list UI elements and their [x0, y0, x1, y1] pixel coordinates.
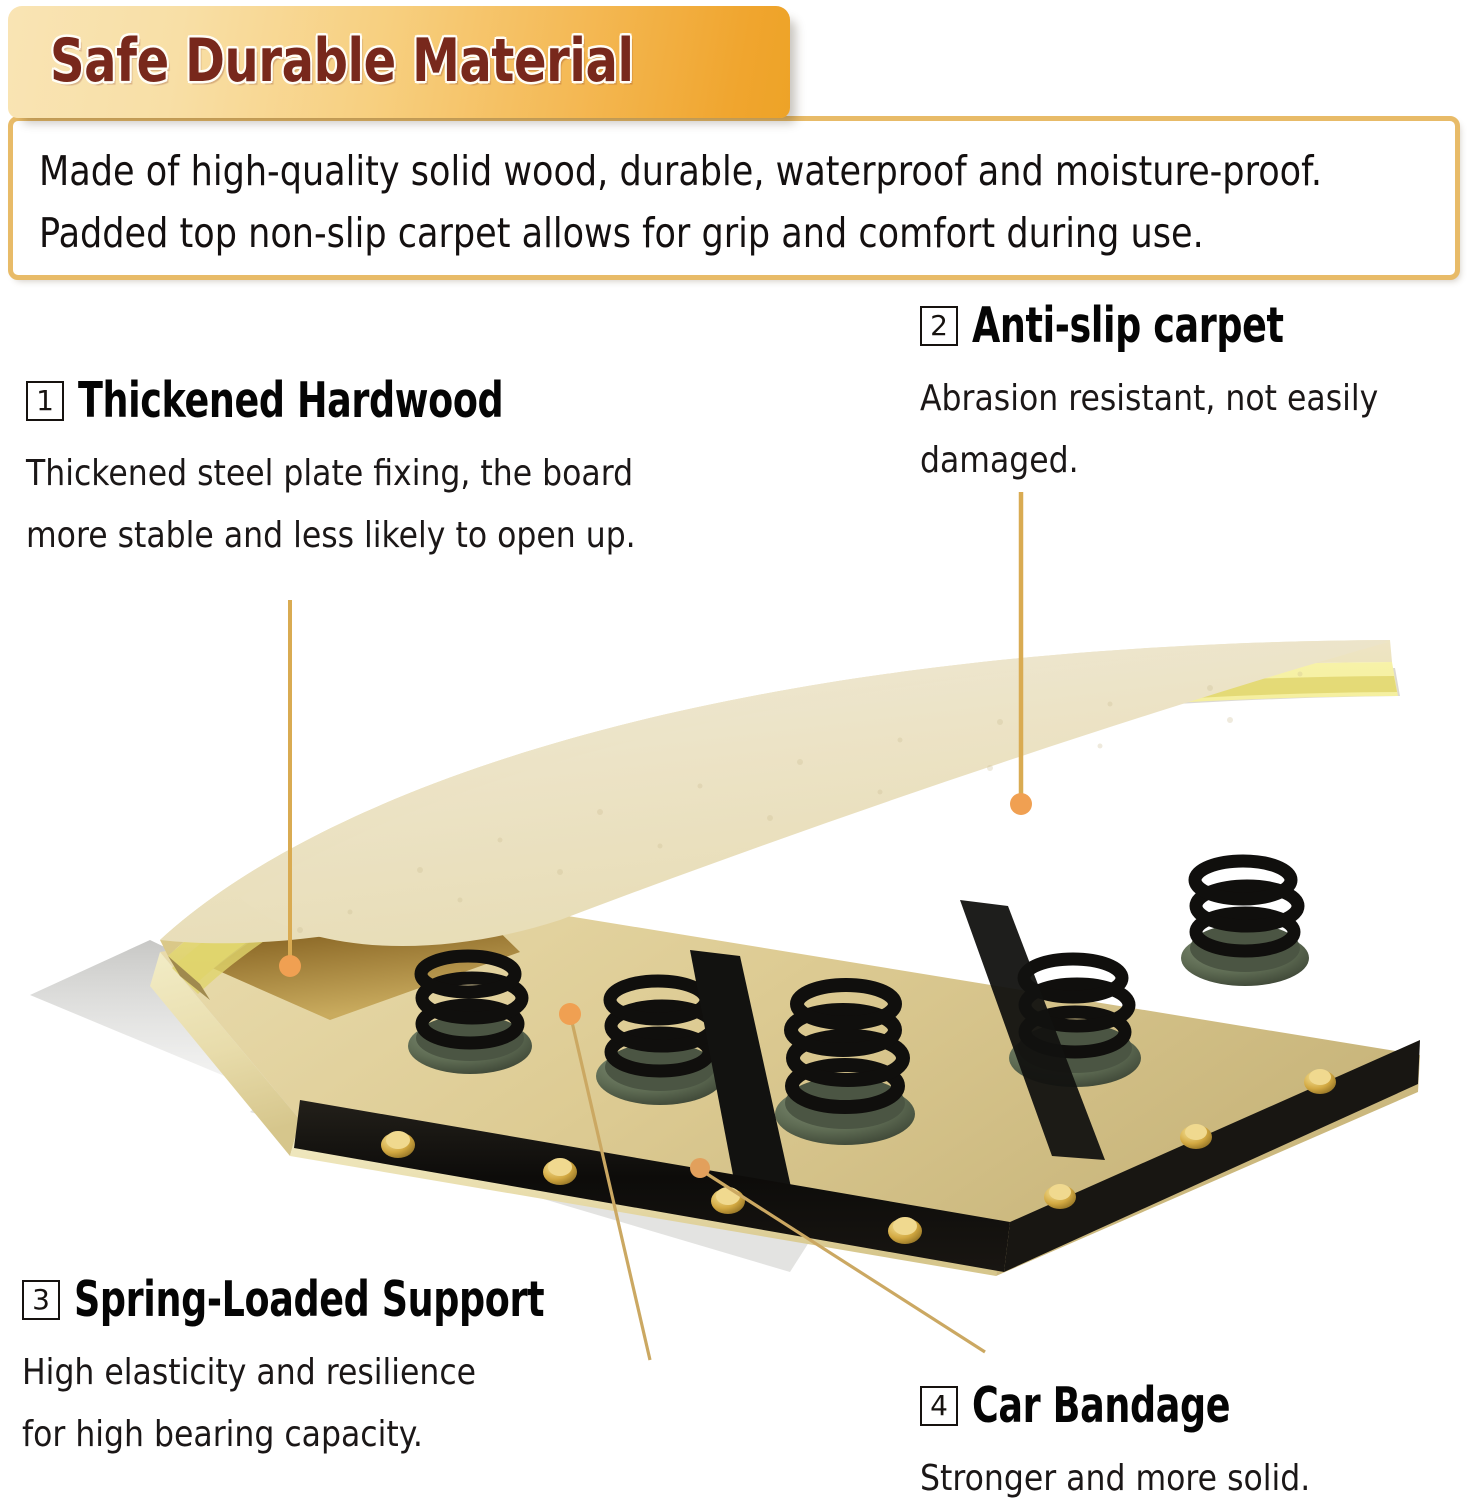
feature-1-body-line-2: more stable and less likely to open up. — [26, 505, 636, 567]
feature-3-body-line-1: High elasticity and resilience — [22, 1342, 620, 1404]
feature-callout-3: 3 Spring-Loaded Support High elasticity … — [22, 1272, 705, 1466]
description-box: Made of high-quality solid wood, durable… — [8, 116, 1460, 280]
feature-1-number-box: 1 — [26, 381, 64, 421]
description-line-2: Padded top non-slip carpet allows for gr… — [39, 209, 1204, 257]
feature-4-heading: 4 Car Bandage — [920, 1378, 1366, 1434]
feature-3-title: Spring-Loaded Support — [74, 1272, 544, 1328]
feature-2-title: Anti-slip carpet — [972, 298, 1284, 354]
feature-2-body-line-1: Abrasion resistant, not easily — [920, 368, 1378, 430]
feature-3-number-box: 3 — [22, 1280, 60, 1320]
feature-3-body-line-2: for high bearing capacity. — [22, 1404, 620, 1466]
feature-1-body-line-1: Thickened steel plate fixing, the board — [26, 443, 636, 505]
feature-4-body-line-1: Stronger and more solid. — [920, 1448, 1310, 1510]
feature-3-heading: 3 Spring-Loaded Support — [22, 1272, 705, 1328]
product-illustration — [0, 600, 1475, 1300]
feature-callout-2: 2 Anti-slip carpet Abrasion resistant, n… — [920, 298, 1444, 492]
feature-2-body-line-2: damaged. — [920, 430, 1378, 492]
feature-callout-4: 4 Car Bandage Stronger and more solid. — [920, 1378, 1366, 1510]
feature-2-number-box: 2 — [920, 306, 958, 346]
feature-4-number-box: 4 — [920, 1386, 958, 1426]
header-banner-tab: Safe Durable Material — [8, 6, 790, 118]
feature-callout-1: 1 Thickened Hardwood Thickened steel pla… — [26, 373, 723, 567]
feature-2-heading: 2 Anti-slip carpet — [920, 298, 1444, 354]
description-line-1: Made of high-quality solid wood, durable… — [39, 147, 1322, 195]
feature-4-title: Car Bandage — [972, 1378, 1230, 1434]
feature-1-heading: 1 Thickened Hardwood — [26, 373, 723, 429]
page-title: Safe Durable Material — [50, 24, 634, 98]
feature-1-title: Thickened Hardwood — [78, 373, 503, 429]
